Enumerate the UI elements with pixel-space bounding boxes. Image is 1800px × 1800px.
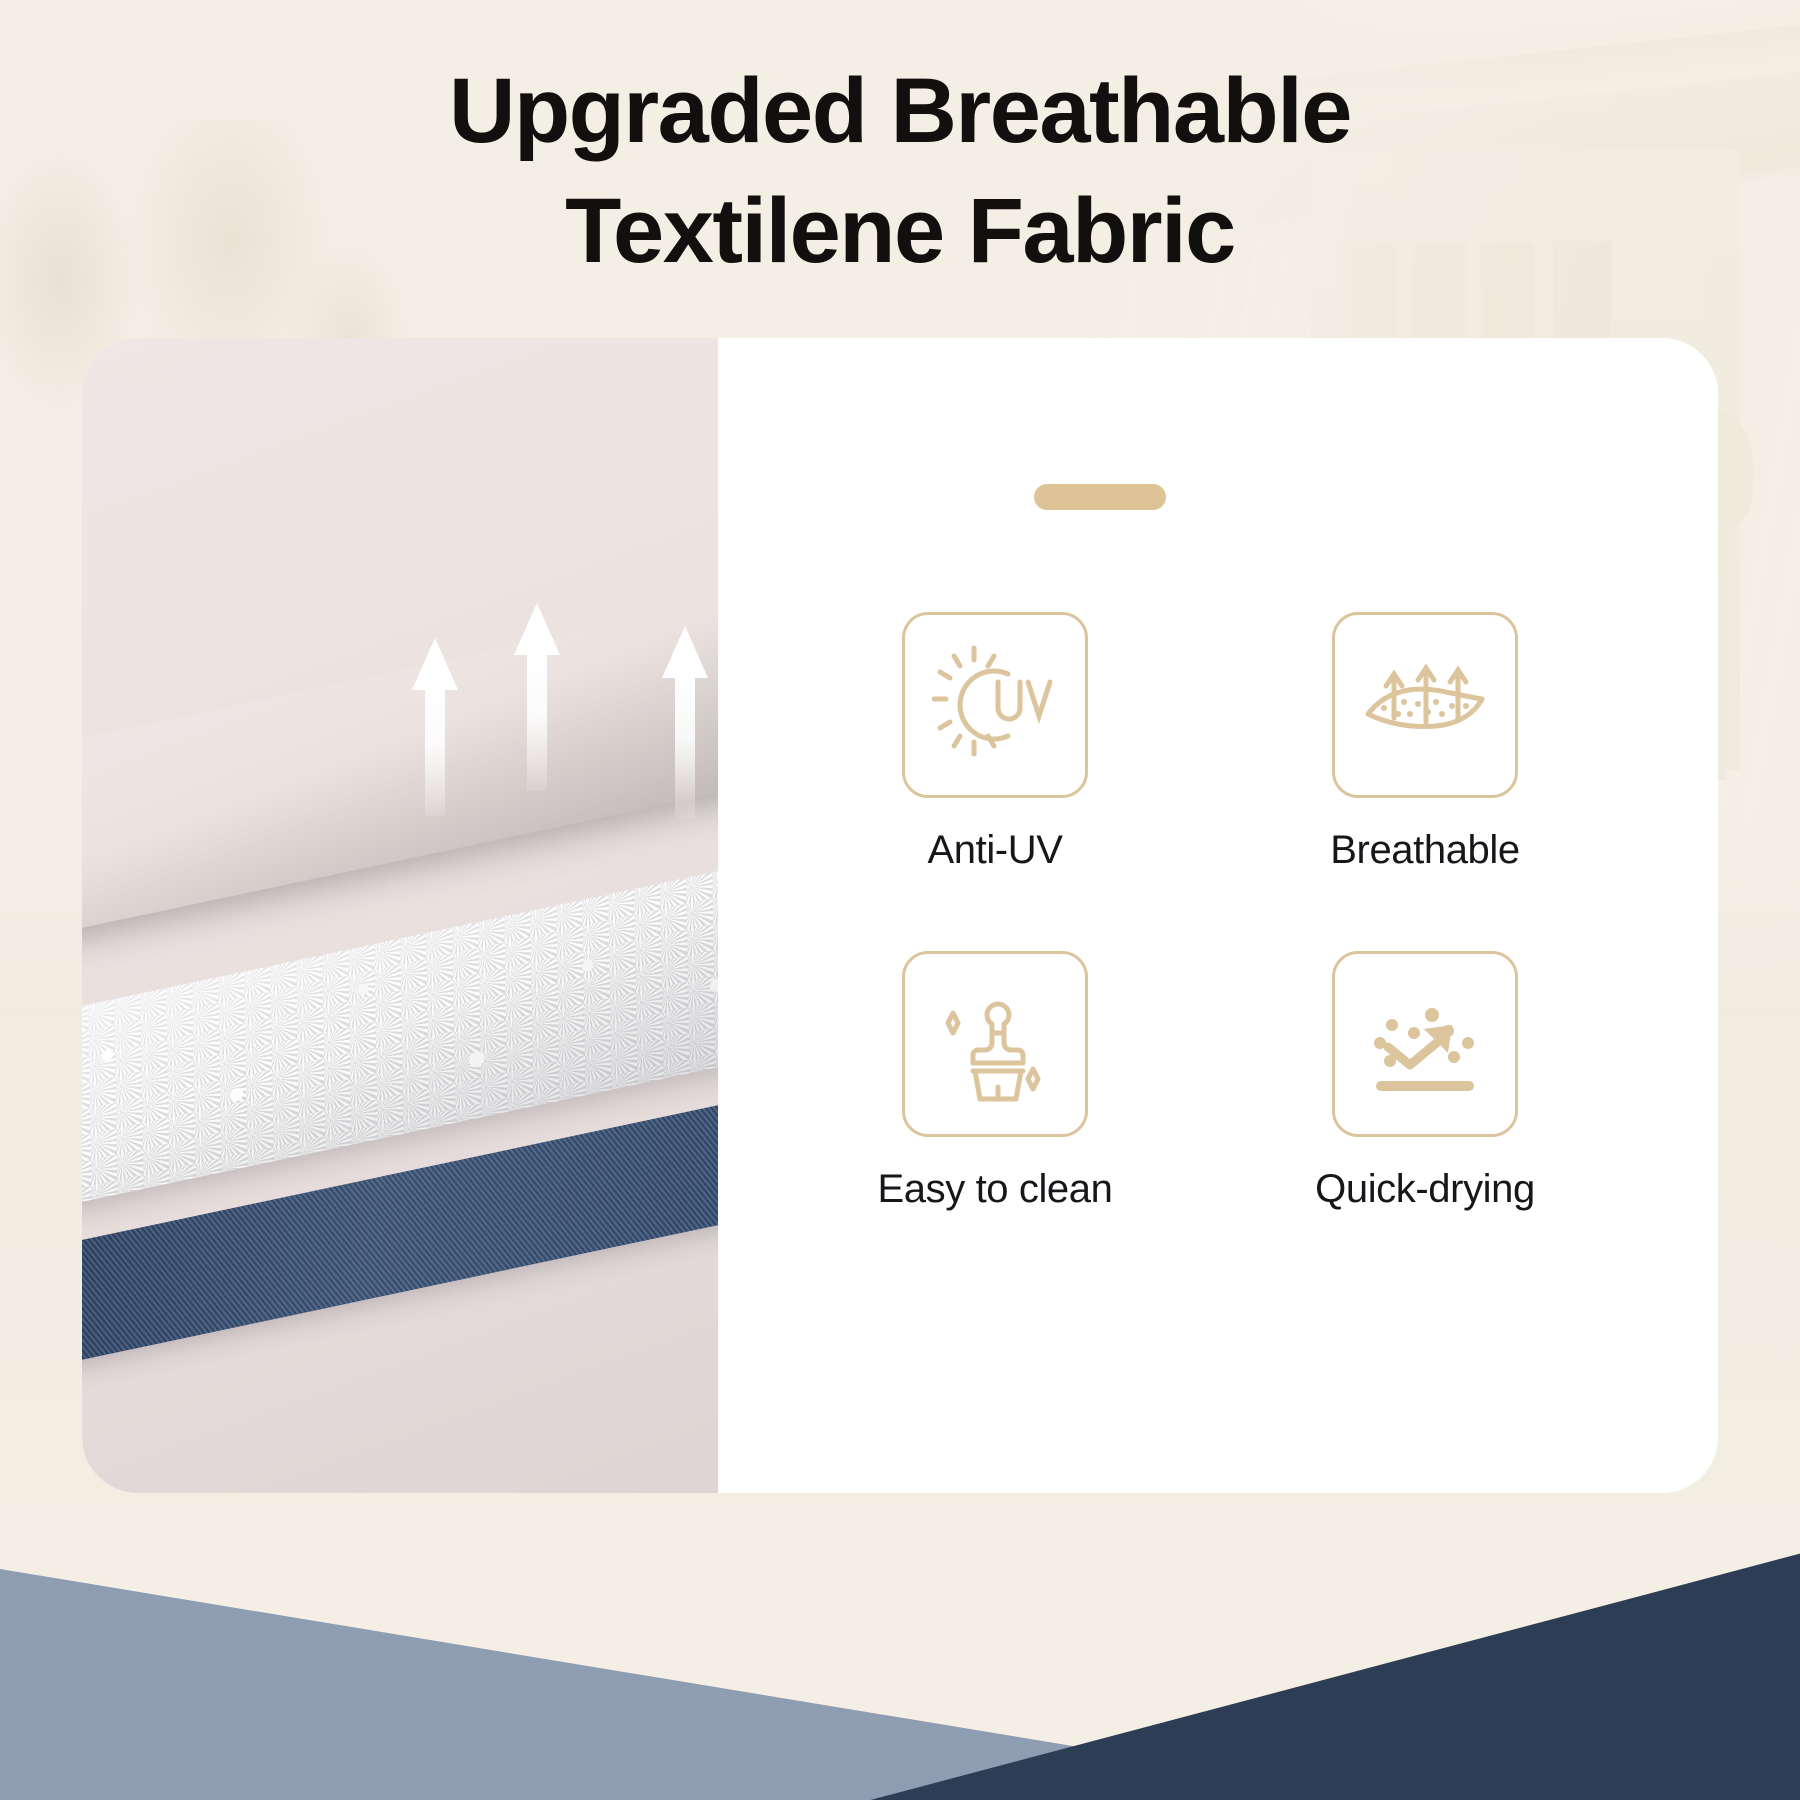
feature-grid: Anti-UV — [780, 612, 1640, 1212]
easy-to-clean-icon-box — [902, 951, 1088, 1137]
breathable-icon-box — [1332, 612, 1518, 798]
page-title-line-1: Upgraded Breathable — [0, 52, 1800, 172]
product-image-panel — [82, 338, 718, 1493]
breathable-fabric-arrows-icon — [1362, 642, 1488, 768]
feature-label: Quick-drying — [1315, 1167, 1535, 1212]
gold-accent-bar — [1034, 484, 1166, 510]
page-title-line-2: Textilene Fabric — [0, 172, 1800, 292]
feature-label: Breathable — [1330, 828, 1519, 873]
product-infographic: Upgraded Breathable Textilene Fabric — [0, 0, 1800, 1800]
feature-breathable[interactable]: Breathable — [1210, 612, 1640, 873]
feature-label: Anti-UV — [927, 828, 1062, 873]
easy-to-clean-brush-icon — [932, 981, 1058, 1107]
feature-quick-drying[interactable]: Quick-drying — [1210, 951, 1640, 1212]
feature-easy-to-clean[interactable]: Easy to clean — [780, 951, 1210, 1212]
quick-drying-droplets-icon — [1362, 981, 1488, 1107]
page-title: Upgraded Breathable Textilene Fabric — [0, 52, 1800, 291]
fabric-layer-top-shading — [82, 584, 718, 943]
anti-uv-sun-icon — [932, 642, 1058, 768]
anti-uv-icon-box — [902, 612, 1088, 798]
feature-label: Easy to clean — [878, 1167, 1113, 1212]
feature-anti-uv[interactable]: Anti-UV — [780, 612, 1210, 873]
quick-drying-icon-box — [1332, 951, 1518, 1137]
